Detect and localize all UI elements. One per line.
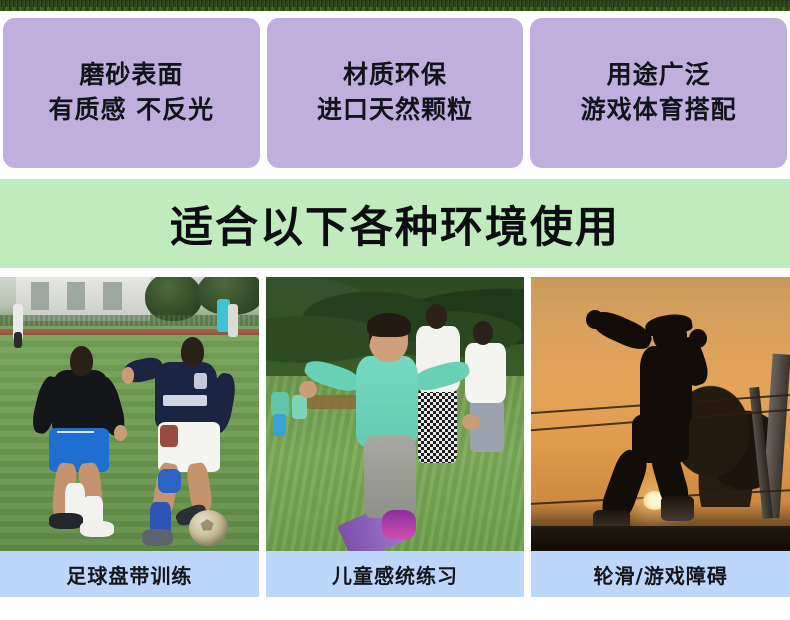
child-trousers (364, 436, 416, 518)
skater-fist (689, 329, 707, 348)
soccer-ball (189, 510, 228, 546)
jersey-crest-icon (194, 373, 207, 389)
child-tshirt (356, 356, 418, 446)
player-one-hand (114, 425, 127, 441)
feature-card-2-line-2: 进口天然颗粒 (317, 96, 473, 125)
feature-card-1-line-2: 有质感 不反光 (48, 96, 214, 125)
player-two-shoe (142, 529, 173, 545)
usage-photo-row: 足球盘带训练 儿童感统练习 (0, 277, 790, 598)
jersey-sponsor-text (163, 395, 207, 406)
adult-trousers (418, 387, 457, 464)
rollerblade-sunset-photo (531, 277, 790, 551)
usage-caption-1: 足球盘带训练 (0, 551, 259, 597)
feature-card-2-line-1: 材质环保 (343, 61, 447, 90)
section-headline-band: 适合以下各种环境使用 (0, 179, 790, 268)
player-two-thigh-patch (160, 425, 178, 447)
feature-card-3-line-1: 用途广泛 (607, 61, 711, 90)
usage-caption-3: 轮滑/游戏障碍 (531, 551, 790, 597)
player-two-head (181, 337, 204, 367)
foreground-ground (531, 526, 790, 551)
child-hair (367, 313, 411, 338)
player-one-shoe (49, 513, 83, 529)
adult-head (426, 304, 447, 329)
usage-photo-cell-3: 轮滑/游戏障碍 (531, 277, 790, 598)
feature-card-1-line-1: 磨砂表面 (79, 61, 183, 90)
background-tree (145, 277, 202, 321)
player-one-shoe (80, 521, 114, 537)
soccer-training-photo (0, 277, 259, 551)
background-player (228, 304, 238, 337)
child-hand (299, 381, 317, 397)
background-player (14, 332, 22, 348)
feature-card-3: 用途广泛 游戏体育搭配 (530, 18, 787, 168)
child-balance-photo (266, 277, 525, 551)
background-child (273, 414, 286, 436)
usage-photo-cell-1: 足球盘带训练 (0, 277, 259, 598)
top-grass-banner (0, 0, 790, 11)
feature-card-1: 磨砂表面 有质感 不反光 (3, 18, 260, 168)
knee-brace (158, 469, 181, 494)
feature-cards-row: 磨砂表面 有质感 不反光 材质环保 进口天然颗粒 用途广泛 游戏体育搭配 (0, 18, 790, 168)
usage-photo-cell-2: 儿童感统练习 (266, 277, 525, 598)
building-window-icon (31, 282, 49, 309)
child-sneaker (382, 510, 416, 540)
background-child (292, 395, 308, 420)
feature-card-3-line-2: 游戏体育搭配 (581, 96, 737, 125)
building-window-icon (103, 282, 121, 309)
feature-card-2: 材质环保 进口天然颗粒 (267, 18, 524, 168)
adult-polo (465, 343, 506, 403)
building-window-icon (67, 282, 85, 309)
usage-caption-2: 儿童感统练习 (266, 551, 525, 597)
inline-skate (661, 496, 695, 521)
section-headline-text: 适合以下各种环境使用 (170, 193, 620, 255)
player-one-head (70, 346, 93, 376)
skater-fist (586, 310, 604, 329)
